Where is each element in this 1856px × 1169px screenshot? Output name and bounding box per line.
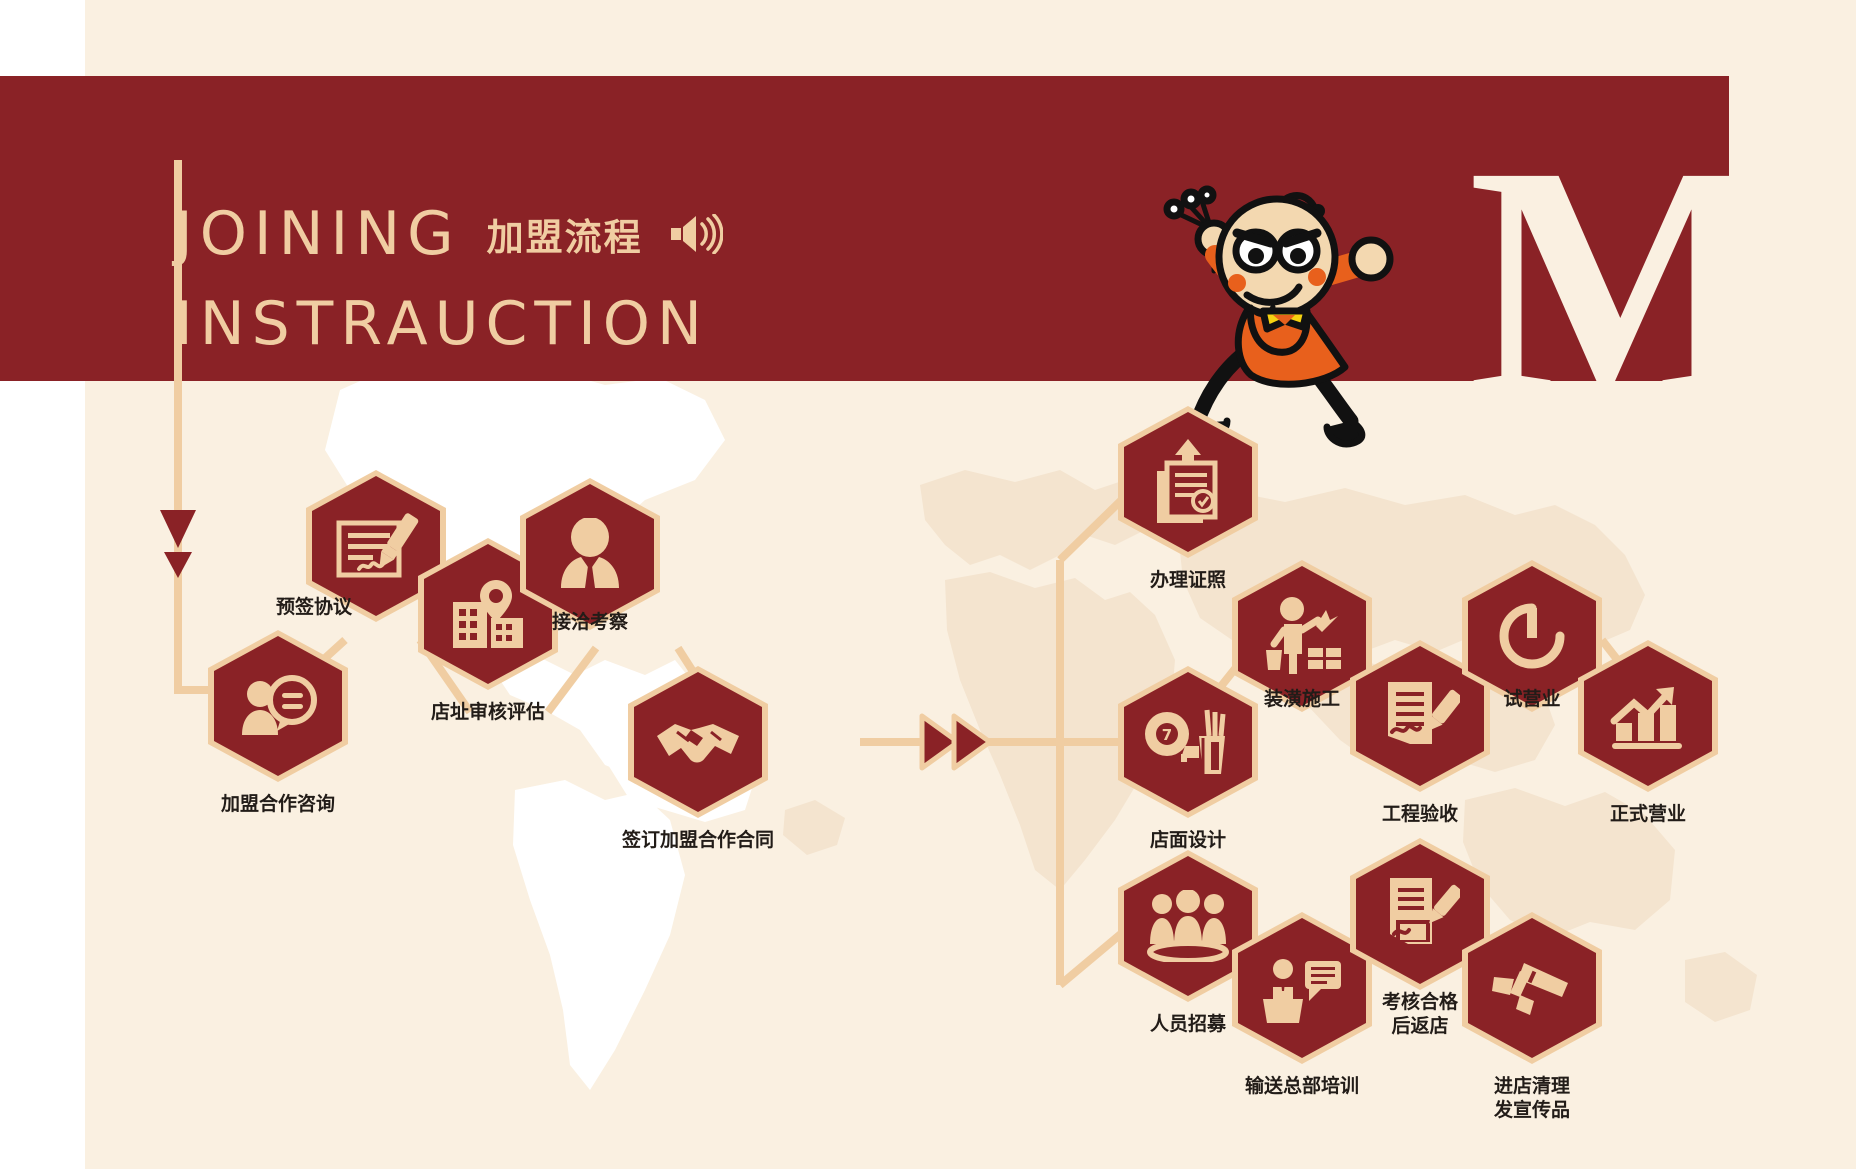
step-node-u6[interactable]: 正式营业 <box>1578 640 1718 792</box>
step-label-s2: 预签协议 <box>276 595 352 619</box>
checklist-pencil-icon <box>1380 678 1460 754</box>
down-arrow-icon <box>160 510 196 578</box>
growth-chart-icon <box>1610 681 1686 751</box>
step-label-u3: 装潢施工 <box>1264 687 1340 711</box>
step-node-s5[interactable]: 签订加盟合作合同 <box>628 666 768 818</box>
megaphone-icon <box>1490 957 1574 1019</box>
tape-measure-pens-icon: 7 <box>1145 708 1231 776</box>
step-label-u4: 工程验收 <box>1382 802 1458 826</box>
step-label-l4-line1: 进店清理 <box>1494 1075 1570 1097</box>
contract-pen-icon <box>333 511 419 581</box>
step-node-u1[interactable]: 办理证照 <box>1118 406 1258 558</box>
double-chevron-right-icon <box>922 716 990 768</box>
team-group-icon <box>1146 890 1230 962</box>
speaker-podium-icon <box>1261 951 1343 1025</box>
step-label-s4: 接洽考察 <box>552 610 628 634</box>
step-label-s5: 签订加盟合作合同 <box>622 828 774 852</box>
step-label-u5: 试营业 <box>1503 687 1560 711</box>
step-label-s3: 店址审核评估 <box>431 700 545 724</box>
businessman-icon <box>555 518 625 590</box>
exam-pencil-icon <box>1380 874 1460 954</box>
step-node-s1[interactable]: 加盟合作咨询 <box>208 630 348 782</box>
building-location-icon <box>449 578 527 650</box>
step-label-l2: 输送总部培训 <box>1245 1074 1359 1098</box>
step-label-s1: 加盟合作咨询 <box>221 792 335 816</box>
step-node-l4[interactable]: 进店清理 发宣传品 <box>1462 912 1602 1064</box>
step-label-l3-line2: 后返店 <box>1391 1015 1448 1037</box>
step-label-l1: 人员招募 <box>1150 1012 1226 1036</box>
step-label-l4: 进店清理 发宣传品 <box>1467 1074 1597 1123</box>
svg-text:7: 7 <box>1162 726 1172 744</box>
person-chat-icon <box>239 673 317 739</box>
step-label-l4-line2: 发宣传品 <box>1494 1099 1570 1121</box>
handshake-icon <box>655 714 741 770</box>
step-node-s4[interactable]: 接洽考察 <box>520 478 660 630</box>
construction-worker-icon <box>1260 596 1344 676</box>
infographic-canvas: JOINING 加盟流程 INSTRAUCTION M <box>0 0 1856 1169</box>
certificate-upload-icon <box>1151 439 1225 525</box>
step-label-u1: 办理证照 <box>1150 568 1226 592</box>
refresh-circle-icon <box>1498 602 1566 670</box>
step-label-u6: 正式营业 <box>1610 802 1686 826</box>
step-label-u2: 店面设计 <box>1150 828 1226 852</box>
step-label-l3-line1: 考核合格 <box>1382 991 1458 1013</box>
